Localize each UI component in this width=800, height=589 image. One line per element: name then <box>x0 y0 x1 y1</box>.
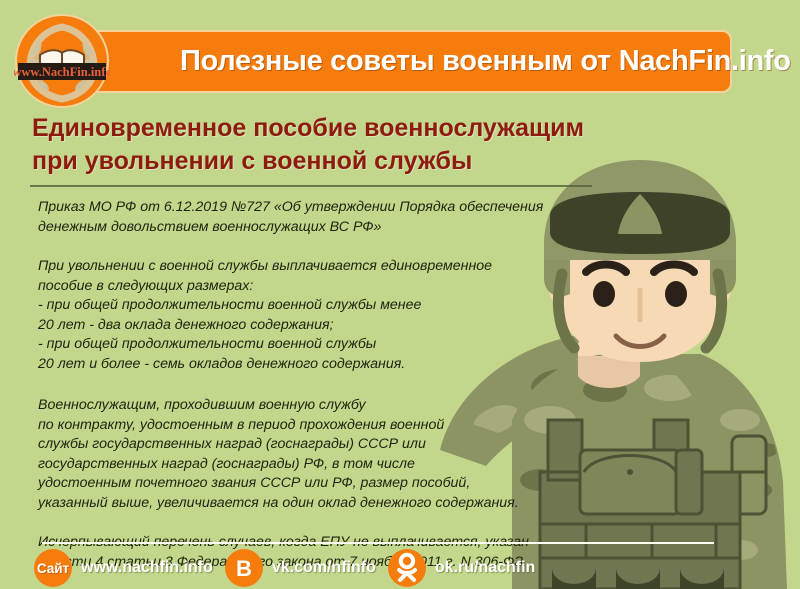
logo-url-text: www.NachFin.info <box>14 65 110 79</box>
footer-ok-link[interactable]: ok.ru/nachfin <box>388 549 535 587</box>
title-divider <box>30 185 592 187</box>
intro-line-2: пособие в следующих размерах: <box>38 277 598 297</box>
order-line-2: денежным довольствием военнослужащих ВС … <box>38 218 598 238</box>
svg-text:В: В <box>236 556 252 581</box>
ok-url-text[interactable]: ok.ru/nachfin <box>435 559 535 577</box>
paragraph-amounts: - при общей продолжительности военной сл… <box>38 296 598 374</box>
nachfin-logo[interactable]: www.NachFin.info <box>14 13 110 109</box>
page-title: Единовременное пособие военнослужащим пр… <box>32 112 692 178</box>
page-title-line-1: Единовременное пособие военнослужащим <box>32 112 692 145</box>
footer-links: Сайт www.nachfin.info В vk.com/nfinfo ok… <box>34 548 547 588</box>
amounts-line-1: - при общей продолжительности военной сл… <box>38 296 598 316</box>
paragraph-awards: Военнослужащим, проходившим военную служ… <box>38 396 598 513</box>
awards-line-5: удостоенным почетного звания СССР или РФ… <box>38 474 598 494</box>
site-url-text[interactable]: www.nachfin.info <box>81 559 213 577</box>
awards-line-3: службы государственных наград (госнаград… <box>38 435 598 455</box>
awards-line-2: по контракту, удостоенным в период прохо… <box>38 416 598 436</box>
awards-line-1: Военнослужащим, проходившим военную служ… <box>38 396 598 416</box>
paragraph-order: Приказ МО РФ от 6.12.2019 №727 «Об утвер… <box>38 198 598 237</box>
site-badge-label: Сайт <box>37 561 69 576</box>
amounts-line-4: 20 лет и более - семь окладов денежного … <box>38 355 598 375</box>
footer-vk-link[interactable]: В vk.com/nfinfo <box>225 549 376 587</box>
footer-divider <box>42 542 714 544</box>
chest-pouch <box>580 450 702 514</box>
footer-site-link[interactable]: Сайт www.nachfin.info <box>34 549 213 587</box>
header-banner: Полезные советы военным от NachFin.info <box>58 30 732 93</box>
vk-url-text[interactable]: vk.com/nfinfo <box>272 559 376 577</box>
infographic-poster: Полезные советы военным от NachFin.info <box>0 0 800 589</box>
body-content: Приказ МО РФ от 6.12.2019 №727 «Об утвер… <box>38 198 598 572</box>
intro-line-1: При увольнении с военной службы выплачив… <box>38 257 598 277</box>
paragraph-intro: При увольнении с военной службы выплачив… <box>38 257 598 296</box>
header-banner-text: Полезные советы военным от NachFin.info <box>180 32 791 91</box>
site-badge-icon[interactable]: Сайт <box>34 549 72 587</box>
page-title-line-2: при увольнении с военной службы <box>32 145 692 178</box>
odnoklassniki-icon[interactable] <box>388 549 426 587</box>
awards-line-4: государственных наград (госнаграды) РФ, … <box>38 455 598 475</box>
awards-line-6: указанный выше, увеличивается на один ок… <box>38 494 598 514</box>
amounts-line-3: - при общей продолжительности военной сл… <box>38 335 598 355</box>
vk-icon[interactable]: В <box>225 549 263 587</box>
order-line-1: Приказ МО РФ от 6.12.2019 №727 «Об утвер… <box>38 198 598 218</box>
right-arm <box>672 354 787 589</box>
amounts-line-2: 20 лет - два оклада денежного содержания… <box>38 316 598 336</box>
